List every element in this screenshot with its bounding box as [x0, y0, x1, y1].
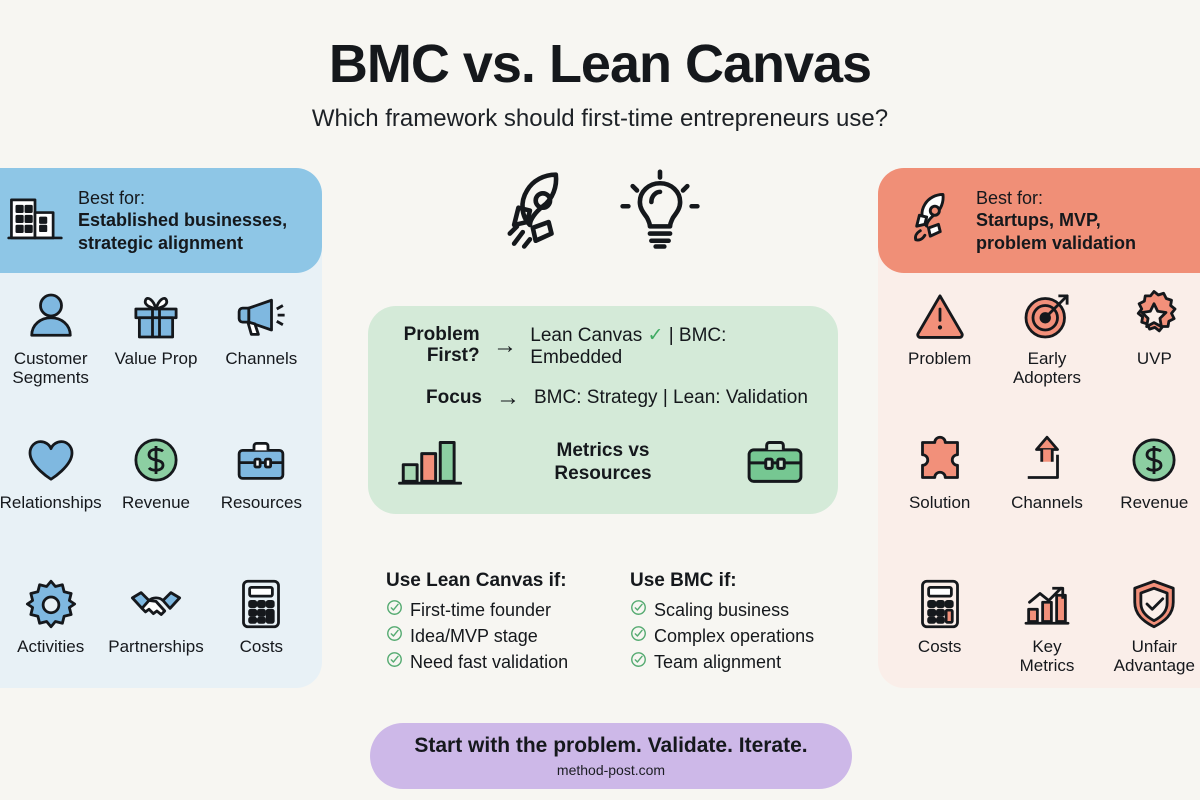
- bmc-block-label: Activities: [17, 638, 84, 657]
- calculator-icon: [233, 576, 289, 632]
- arrow-right-icon: →: [482, 386, 534, 410]
- lean-block-label: Costs: [918, 638, 961, 657]
- lean-best-for-line-2: problem validation: [976, 232, 1136, 254]
- bmc-block-revenue[interactable]: Revenue: [103, 432, 208, 560]
- circle-check-icon: [630, 623, 647, 649]
- bmc-block-label: Relationships: [0, 494, 102, 513]
- use-lean-canvas-list: Use Lean Canvas if: First-time founder I…: [386, 570, 612, 675]
- bmc-block-label: Partnerships: [108, 638, 203, 657]
- bmc-block-label: Channels: [225, 350, 297, 369]
- lean-canvas-panel: Best for: Startups, MVP, problem validat…: [878, 168, 1200, 688]
- lean-block-label: Unfair Advantage: [1114, 638, 1195, 675]
- checklist-item-label: Scaling business: [654, 597, 789, 623]
- lean-panel-header: Best for: Startups, MVP, problem validat…: [878, 168, 1200, 273]
- puzzle-piece-icon: [912, 432, 968, 488]
- lean-block-solution[interactable]: Solution: [886, 432, 993, 560]
- footer-url[interactable]: method-post.com: [557, 762, 665, 778]
- bmc-block-activities[interactable]: Activities: [0, 576, 103, 704]
- bmc-block-relationships[interactable]: Relationships: [0, 432, 103, 560]
- footer-banner: Start with the problem. Validate. Iterat…: [370, 723, 852, 789]
- comparison-row-metrics-vs-resources: Metrics vs Resources: [368, 424, 838, 498]
- lightbulb-icon: [614, 166, 706, 263]
- checklist-title: Use BMC if:: [630, 570, 856, 592]
- lean-block-unfair-advantage[interactable]: Unfair Advantage: [1101, 576, 1200, 704]
- bmc-block-label: Costs: [240, 638, 283, 657]
- infographic-canvas: BMC vs. Lean Canvas Which framework shou…: [0, 0, 1200, 800]
- lean-block-uvp[interactable]: UVP: [1101, 288, 1200, 416]
- checklist-item[interactable]: Team alignment: [630, 649, 856, 675]
- checklist-item[interactable]: Need fast validation: [386, 649, 612, 675]
- bar-chart-icon: [394, 430, 468, 497]
- lean-block-costs[interactable]: Costs: [886, 576, 993, 704]
- check-icon: ✓: [648, 325, 664, 346]
- lean-panel-header-text: Best for: Startups, MVP, problem validat…: [976, 187, 1136, 254]
- lean-block-early-adopters[interactable]: Early Adopters: [993, 288, 1100, 416]
- bmc-block-label: Value Prop: [115, 350, 198, 369]
- comparison-row-value: Lean Canvas ✓ | BMC: Embedded: [530, 324, 816, 369]
- checklist-item-label: Complex operations: [654, 623, 814, 649]
- briefcase-icon: [738, 430, 812, 497]
- lean-block-problem[interactable]: Problem: [886, 288, 993, 416]
- bmc-block-label: Revenue: [122, 494, 190, 513]
- comparison-row-value: BMC: Strategy | Lean: Validation: [534, 387, 808, 409]
- shield-check-icon: [1126, 576, 1182, 632]
- page-title: BMC vs. Lean Canvas: [0, 36, 1200, 93]
- lean-block-label: Early Adopters: [1013, 350, 1081, 387]
- checklist-item[interactable]: Scaling business: [630, 597, 856, 623]
- comparison-row-label: Focus: [390, 388, 482, 409]
- circle-check-icon: [630, 597, 647, 623]
- bmc-block-grid: Customer Segments Value Prop: [0, 288, 322, 704]
- metrics-vs-resources-title: Metrics vs Resources: [554, 440, 651, 486]
- lean-block-revenue[interactable]: Revenue: [1101, 432, 1200, 560]
- lean-block-label: Revenue: [1120, 494, 1188, 513]
- bmc-block-value-prop[interactable]: Value Prop: [103, 288, 208, 416]
- checklist-item[interactable]: Complex operations: [630, 623, 856, 649]
- bmc-block-label: Resources: [221, 494, 302, 513]
- bmc-block-label: Customer Segments: [12, 350, 89, 387]
- dollar-coin-icon: [128, 432, 184, 488]
- lean-block-label: Problem: [908, 350, 971, 369]
- lean-block-label: Key Metrics: [1020, 638, 1075, 675]
- briefcase-icon: [233, 432, 289, 488]
- lean-block-label: Channels: [1011, 494, 1083, 513]
- checklist-item[interactable]: Idea/MVP stage: [386, 623, 612, 649]
- use-bmc-list: Use BMC if: Scaling business Complex ope…: [630, 570, 856, 675]
- dollar-coin-icon: [1126, 432, 1182, 488]
- lean-block-label: Solution: [909, 494, 970, 513]
- bmc-block-channels[interactable]: Channels: [209, 288, 314, 416]
- calculator-icon: [912, 576, 968, 632]
- checklist-item-label: Team alignment: [654, 649, 781, 675]
- target-icon: [1019, 288, 1075, 344]
- star-badge-icon: [1126, 288, 1182, 344]
- circle-check-icon: [386, 597, 403, 623]
- circle-check-icon: [386, 623, 403, 649]
- growth-chart-icon: [1019, 576, 1075, 632]
- heart-icon: [23, 432, 79, 488]
- comparison-band: Problem First? → Lean Canvas ✓ | BMC: Em…: [368, 306, 838, 514]
- gear-icon: [23, 576, 79, 632]
- arrow-right-icon: →: [480, 334, 531, 358]
- rocket-icon: [904, 189, 962, 252]
- decision-checklists: Use Lean Canvas if: First-time founder I…: [386, 570, 856, 675]
- checklist-item-label: Need fast validation: [410, 649, 568, 675]
- bmc-best-for-label: Best for:: [78, 187, 287, 209]
- bmc-best-for-line-2: strategic alignment: [78, 232, 287, 254]
- bmc-panel-header: Best for: Established businesses, strate…: [0, 168, 322, 273]
- bmc-panel: Best for: Established businesses, strate…: [0, 168, 322, 688]
- bmc-block-customer-segments[interactable]: Customer Segments: [0, 288, 103, 416]
- lean-block-label: UVP: [1137, 350, 1172, 369]
- arrow-up-icon: [1019, 432, 1075, 488]
- circle-check-icon: [386, 649, 403, 675]
- megaphone-icon: [233, 288, 289, 344]
- checklist-title: Use Lean Canvas if:: [386, 570, 612, 592]
- comparison-row-label: Problem First?: [390, 325, 480, 367]
- lean-best-for-label: Best for:: [976, 187, 1136, 209]
- lean-block-channels[interactable]: Channels: [993, 432, 1100, 560]
- lean-block-key-metrics[interactable]: Key Metrics: [993, 576, 1100, 704]
- bmc-block-partnerships[interactable]: Partnerships: [103, 576, 208, 704]
- page-subtitle: Which framework should first-time entrep…: [0, 105, 1200, 133]
- checklist-item[interactable]: First-time founder: [386, 597, 612, 623]
- gift-icon: [128, 288, 184, 344]
- bmc-block-resources[interactable]: Resources: [209, 432, 314, 560]
- office-building-icon: [6, 189, 64, 252]
- lean-block-grid: Problem Early Adopters: [878, 288, 1200, 704]
- checklist-item-label: First-time founder: [410, 597, 551, 623]
- bmc-panel-header-text: Best for: Established businesses, strate…: [78, 187, 287, 254]
- warning-triangle-icon: [912, 288, 968, 344]
- bmc-best-for-line-1: Established businesses,: [78, 209, 287, 231]
- circle-check-icon: [630, 649, 647, 675]
- comparison-row-problem-first: Problem First? → Lean Canvas ✓ | BMC: Em…: [368, 320, 838, 372]
- person-icon: [23, 288, 79, 344]
- lean-best-for-line-1: Startups, MVP,: [976, 209, 1136, 231]
- rocket-icon: [494, 166, 586, 263]
- bmc-block-costs[interactable]: Costs: [209, 576, 314, 704]
- footer-cta: Start with the problem. Validate. Iterat…: [414, 734, 807, 758]
- comparison-value-pre: Lean Canvas: [530, 325, 647, 346]
- handshake-icon: [128, 576, 184, 632]
- checklist-item-label: Idea/MVP stage: [410, 623, 538, 649]
- comparison-row-focus: Focus → BMC: Strategy | Lean: Validation: [368, 372, 838, 424]
